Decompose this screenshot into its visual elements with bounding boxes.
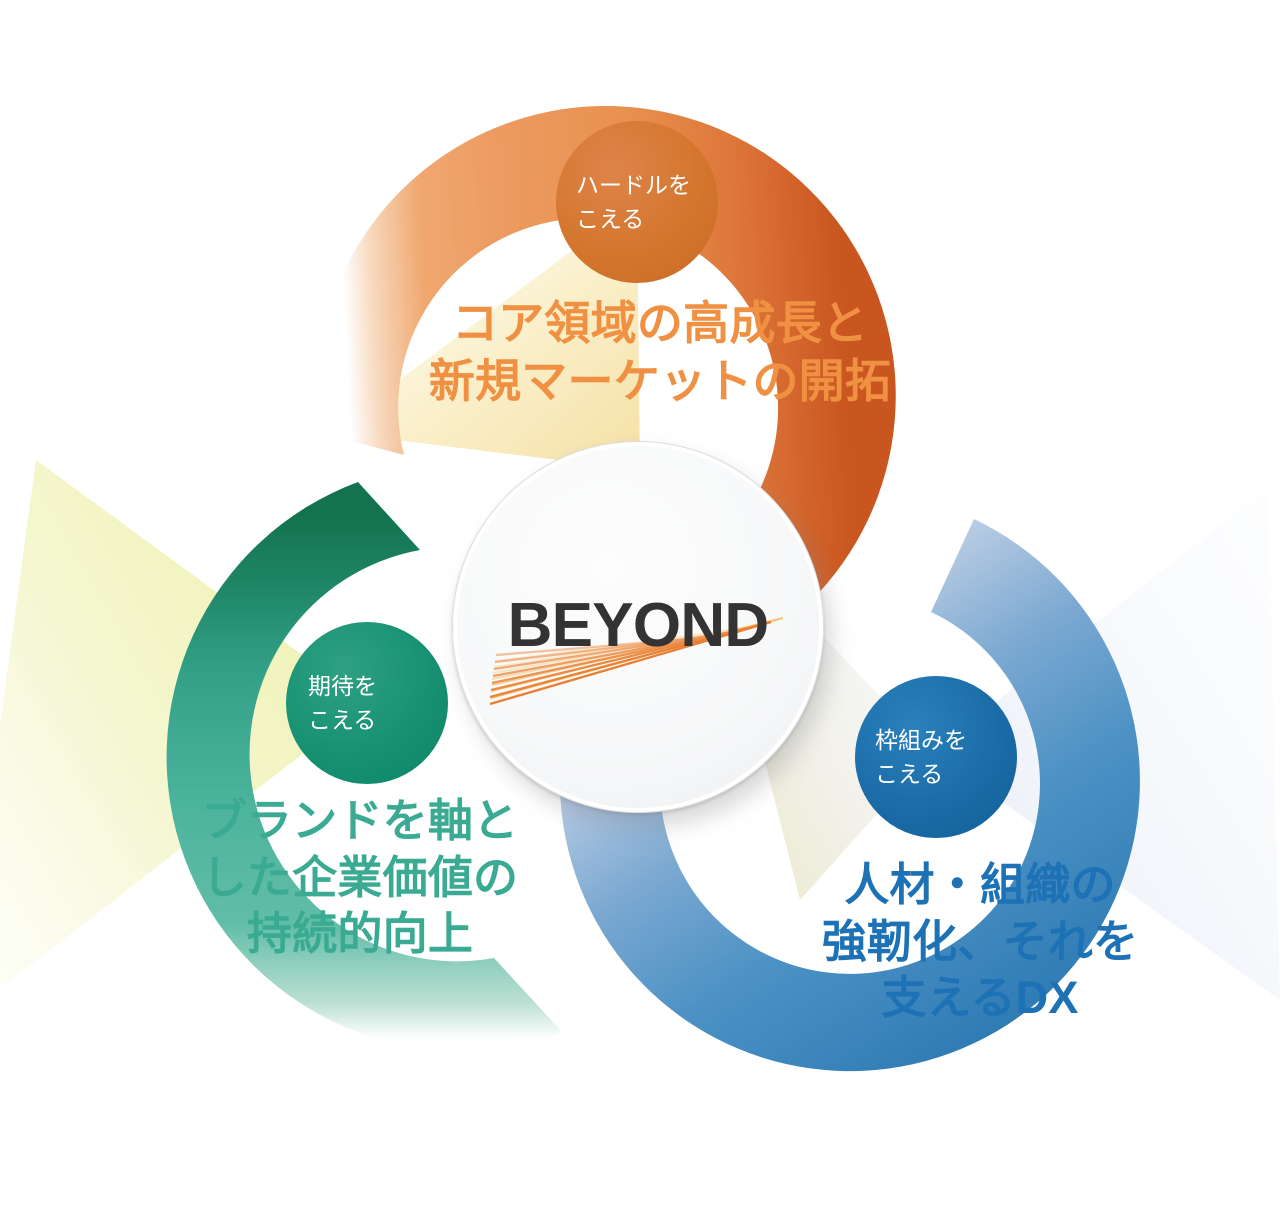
badge-framework[interactable]: 枠組みを こえる [855, 676, 1017, 838]
center-logo-disc: BEYOND [452, 441, 824, 813]
logo-wordmark: BEYOND [453, 590, 823, 661]
headline-blue: 人材・組織の 強靭化、それを 支えるDX [720, 857, 1240, 1027]
headline-green: ブランドを軸と した企業価値の 持続的向上 [105, 793, 615, 963]
diagram-canvas: コア領域の高成長と 新規マーケットの開拓 ブランドを軸と した企業価値の 持続的… [0, 0, 1280, 1210]
badge-hurdle[interactable]: ハードルを こえる [556, 121, 718, 283]
badge-expectation[interactable]: 期待を こえる [286, 622, 448, 784]
beyond-logo: BEYOND [453, 442, 823, 812]
headline-orange: コア領域の高成長と 新規マーケットの開拓 [360, 295, 960, 411]
